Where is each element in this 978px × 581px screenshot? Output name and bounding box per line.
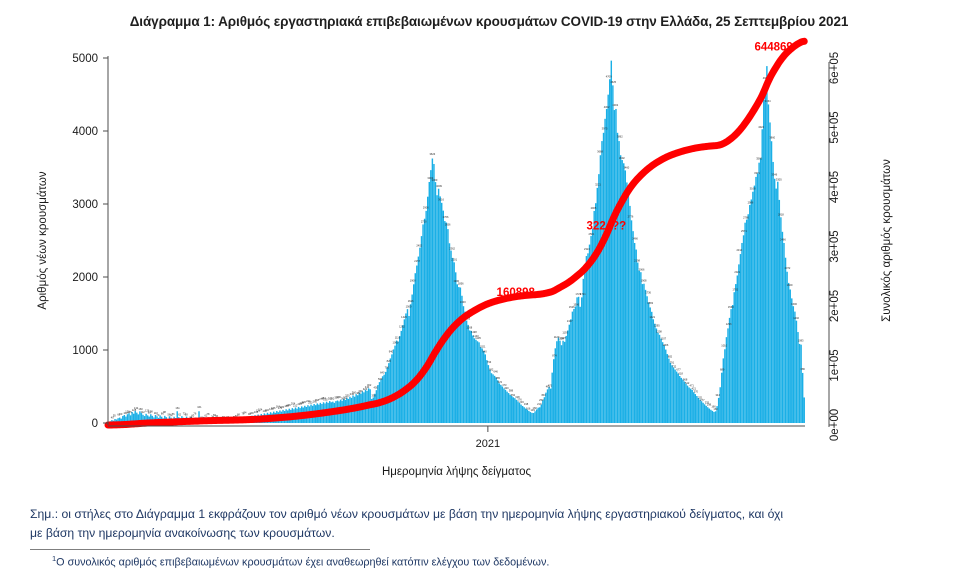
bar bbox=[480, 347, 481, 423]
bar bbox=[721, 373, 722, 423]
bar-value-label: 646 bbox=[494, 369, 499, 373]
bar-value-label: 4625 bbox=[610, 80, 616, 84]
bar-value-label: 462 bbox=[367, 383, 372, 387]
bar-value-label: 2066 bbox=[639, 267, 645, 271]
bar bbox=[475, 340, 476, 423]
bar-value-label: 732 bbox=[672, 364, 677, 368]
bar bbox=[550, 389, 551, 423]
bar-value-label: 1107 bbox=[661, 336, 667, 340]
bar bbox=[659, 335, 660, 423]
bar bbox=[674, 370, 675, 423]
bar bbox=[477, 341, 478, 423]
bar bbox=[405, 313, 406, 423]
bar bbox=[472, 336, 473, 423]
bar-value-label: 1560 bbox=[728, 305, 734, 309]
bar bbox=[648, 302, 649, 423]
bar-value-label: 3460 bbox=[623, 166, 629, 170]
y-axis-title: Αριθμός νέων κρουσμάτων bbox=[37, 171, 49, 309]
bar-value-label: 618 bbox=[678, 371, 683, 375]
bar-value-label: 3566 bbox=[756, 156, 762, 160]
bar-value-label: 2324 bbox=[584, 247, 590, 251]
bar-value-label: 2466 bbox=[632, 237, 638, 241]
bar-value-label: 1127 bbox=[560, 336, 566, 340]
bar bbox=[551, 373, 552, 423]
bar bbox=[509, 395, 510, 423]
bar-value-label: 2720 bbox=[421, 220, 427, 224]
bar bbox=[691, 390, 692, 423]
y-axis-tick-label: 2000 bbox=[72, 272, 98, 284]
bar bbox=[611, 61, 612, 423]
bar-value-label: 4364 bbox=[765, 99, 771, 103]
note-footnote: 1Ο συνολικός αριθμός επιβεβαιωμένων κρου… bbox=[52, 554, 948, 571]
bar bbox=[474, 338, 475, 423]
cumulative-annotation: 160898 bbox=[497, 287, 536, 299]
bar bbox=[573, 309, 574, 423]
bar-value-label: 2818 bbox=[778, 213, 784, 217]
bar-value-label: 2362 bbox=[449, 246, 455, 250]
bar-value-label: 874 bbox=[552, 353, 557, 357]
bar bbox=[404, 319, 405, 423]
bar-value-label: 1010 bbox=[721, 343, 727, 347]
bar-value-label: 2021 bbox=[734, 270, 740, 274]
bar bbox=[513, 397, 514, 423]
bar bbox=[525, 409, 526, 423]
bar bbox=[579, 307, 580, 423]
bar-value-label: 198 bbox=[524, 402, 529, 406]
bar-value-label: 3602 bbox=[619, 156, 625, 160]
bar bbox=[710, 410, 711, 423]
bar bbox=[755, 177, 756, 423]
bar-value-label: 3221 bbox=[595, 183, 601, 187]
bar bbox=[408, 316, 409, 423]
bar bbox=[587, 253, 588, 423]
bar bbox=[522, 406, 523, 423]
bar bbox=[471, 331, 472, 423]
y-axis-tick-label: 5000 bbox=[72, 53, 98, 65]
bar bbox=[500, 385, 501, 423]
bar bbox=[631, 220, 632, 423]
bar bbox=[569, 325, 570, 423]
bar bbox=[663, 345, 664, 423]
bar bbox=[407, 309, 408, 423]
bar bbox=[416, 266, 417, 423]
bar bbox=[646, 296, 647, 423]
bar bbox=[502, 387, 503, 424]
bar bbox=[489, 370, 490, 423]
figure-area: 4055666011012010512814216011212688981107… bbox=[0, 34, 978, 494]
bar-value-label: 882 bbox=[668, 354, 673, 358]
bar bbox=[514, 398, 515, 423]
bar bbox=[527, 410, 528, 423]
bar bbox=[634, 243, 635, 423]
bar bbox=[639, 271, 640, 423]
footnote-text: Ο συνολικός αριθμός επιβεβαιωμένων κρουσ… bbox=[56, 556, 549, 568]
y2-axis-tick-label: 5e+05 bbox=[829, 111, 841, 143]
bar bbox=[699, 400, 700, 423]
bar bbox=[695, 394, 696, 423]
bar bbox=[415, 273, 416, 423]
bar-value-label: 3862 bbox=[617, 135, 623, 139]
bar bbox=[642, 284, 643, 423]
bar-value-label: 1900 bbox=[410, 278, 416, 282]
bar bbox=[617, 133, 618, 423]
bar-value-label: 98 bbox=[163, 410, 166, 414]
bar-value-label: 1402 bbox=[793, 316, 799, 320]
bar bbox=[494, 376, 495, 423]
bar-value-label: 1560 bbox=[406, 304, 412, 308]
bar bbox=[422, 224, 423, 423]
bar-value-label: 253 bbox=[539, 398, 544, 402]
y-axis-tick-label: 1000 bbox=[72, 345, 98, 357]
bar-value-label: 1600 bbox=[791, 302, 797, 306]
bar-value-label: 820 bbox=[387, 359, 392, 363]
bar bbox=[662, 342, 663, 423]
bar-value-label: 353 bbox=[541, 393, 546, 397]
bar bbox=[772, 162, 773, 423]
bar-value-label: 1116 bbox=[395, 336, 401, 340]
bar bbox=[488, 365, 489, 423]
bar bbox=[629, 206, 630, 423]
bar bbox=[626, 182, 627, 423]
bar bbox=[713, 412, 714, 423]
bar-value-label: 2201 bbox=[451, 258, 457, 262]
bar bbox=[402, 325, 403, 423]
bar bbox=[553, 359, 554, 423]
bar bbox=[761, 129, 762, 423]
bar bbox=[531, 413, 532, 423]
bar bbox=[466, 321, 467, 423]
bar bbox=[612, 85, 613, 423]
bar-value-label: 1060 bbox=[393, 340, 399, 344]
bar-value-label: 1600 bbox=[460, 300, 466, 304]
bar bbox=[558, 337, 559, 423]
bar-value-label: 1856 bbox=[458, 282, 464, 286]
bar bbox=[667, 354, 668, 423]
bar bbox=[534, 411, 535, 423]
bar-value-label: 568 bbox=[683, 377, 688, 381]
bar-value-label: 1193 bbox=[562, 331, 568, 335]
bar-value-label: 3623 bbox=[429, 152, 435, 156]
x-axis-title: Ημερομηνία λήψης δείγματος bbox=[382, 466, 532, 478]
bar bbox=[690, 389, 691, 423]
bar bbox=[419, 248, 420, 423]
bar bbox=[450, 251, 451, 423]
bar-value-label: 677 bbox=[676, 368, 681, 372]
bar-value-label: 1829 bbox=[787, 283, 793, 287]
bar-value-label: 160 bbox=[713, 407, 718, 411]
bar bbox=[374, 394, 375, 423]
bar-value-label: 62 bbox=[178, 413, 181, 417]
page-title: Διάγραμμα 1: Αριθμός εργαστηριακά επιβεβ… bbox=[0, 14, 978, 29]
bar-value-label: 2906 bbox=[423, 206, 429, 210]
bar bbox=[797, 332, 798, 423]
bar-value-label: 2571 bbox=[741, 229, 747, 233]
bar bbox=[747, 214, 748, 423]
bar bbox=[418, 257, 419, 423]
bar bbox=[701, 401, 702, 423]
bar bbox=[779, 200, 780, 423]
bar bbox=[693, 392, 694, 423]
bar bbox=[411, 295, 412, 423]
bar-value-label: 2766 bbox=[443, 215, 449, 219]
bar-value-label: 2776 bbox=[628, 215, 634, 219]
bar-value-label: 585 bbox=[496, 376, 501, 380]
bar bbox=[741, 243, 742, 423]
bar bbox=[656, 328, 657, 423]
cumulative-annotation: 644869 bbox=[754, 42, 792, 54]
bar bbox=[774, 179, 775, 423]
bar-value-label: 2656 bbox=[445, 223, 451, 227]
bar bbox=[564, 342, 565, 423]
bar bbox=[698, 398, 699, 423]
bar bbox=[645, 290, 646, 423]
bar bbox=[726, 337, 727, 423]
bar bbox=[799, 344, 800, 423]
bar bbox=[495, 378, 496, 423]
bar-value-label: 4302 bbox=[612, 103, 618, 107]
bar bbox=[433, 164, 434, 423]
bar-value-label: 4709 bbox=[606, 74, 612, 78]
bar bbox=[668, 359, 669, 423]
bar-value-label: 3168 bbox=[750, 186, 756, 190]
bar bbox=[635, 250, 636, 423]
bar-value-label: 3975 bbox=[602, 126, 608, 130]
bar-value-label: 1296 bbox=[726, 322, 732, 326]
bar bbox=[555, 348, 556, 423]
bar bbox=[506, 392, 507, 423]
y2-axis-tick-label: 4e+05 bbox=[829, 171, 841, 203]
bar bbox=[530, 412, 531, 423]
bar bbox=[511, 396, 512, 423]
bar-value-label: 2786 bbox=[743, 215, 749, 219]
bar bbox=[497, 380, 498, 423]
bar bbox=[615, 109, 616, 423]
notes-block: Σημ.: οι στήλες στο Διάγραμμα 1 εκφράζου… bbox=[30, 505, 948, 571]
bar bbox=[542, 400, 543, 423]
bar-value-label: 1198 bbox=[471, 330, 477, 334]
bar-value-label: 1105 bbox=[475, 336, 481, 340]
bar bbox=[561, 345, 562, 423]
bar bbox=[603, 133, 604, 423]
bar bbox=[643, 284, 644, 423]
bar-value-label: 1792 bbox=[732, 287, 738, 291]
bar bbox=[625, 170, 626, 423]
bar bbox=[766, 66, 767, 423]
bar bbox=[578, 297, 579, 423]
bar-value-label: 1295 bbox=[654, 324, 660, 328]
bar bbox=[649, 307, 650, 423]
bar bbox=[572, 312, 573, 423]
bar bbox=[595, 203, 596, 423]
bar-value-label: 1721 bbox=[580, 292, 586, 296]
bar bbox=[796, 321, 797, 423]
bar-value-labels: 4055666011012010512814216011212688981107… bbox=[111, 74, 806, 419]
bar bbox=[541, 405, 542, 423]
y2-axis-tick-label: 1e+05 bbox=[829, 349, 841, 381]
bar bbox=[444, 221, 445, 423]
bar bbox=[545, 393, 546, 423]
bar bbox=[413, 284, 414, 423]
bar bbox=[660, 339, 661, 423]
bar bbox=[790, 289, 791, 423]
bar-value-label: 88 bbox=[185, 412, 188, 416]
bar-value-label: 3371 bbox=[754, 171, 760, 175]
bar bbox=[653, 319, 654, 423]
bar bbox=[788, 283, 789, 423]
bar bbox=[729, 318, 730, 423]
bar bbox=[463, 306, 464, 423]
bar bbox=[460, 288, 461, 423]
bar bbox=[777, 182, 778, 423]
bar-value-label: 4024 bbox=[758, 125, 764, 129]
bar bbox=[399, 336, 400, 423]
bar bbox=[598, 174, 599, 423]
bar-value-label: 161 bbox=[175, 406, 180, 410]
bar bbox=[533, 413, 534, 423]
bar bbox=[425, 211, 426, 423]
bar bbox=[671, 365, 672, 423]
bar-value-label: 1421 bbox=[649, 315, 655, 319]
y-axis-tick-label: 3000 bbox=[72, 199, 98, 211]
bar bbox=[544, 397, 545, 423]
bar-value-label: 84 bbox=[244, 410, 247, 414]
bar bbox=[737, 275, 738, 423]
bar-value-label: 344 bbox=[715, 393, 720, 397]
bar bbox=[752, 192, 753, 423]
bar-value-label: 686 bbox=[801, 367, 806, 371]
bar bbox=[537, 408, 538, 423]
bar-value-label: 161 bbox=[197, 405, 202, 409]
bar bbox=[388, 363, 389, 423]
note-main-line1: Σημ.: οι στήλες στο Διάγραμμα 1 εκφράζου… bbox=[30, 505, 948, 524]
bar bbox=[682, 379, 683, 423]
y2-axis-tick-label: 0e+00 bbox=[829, 409, 841, 441]
bar bbox=[765, 81, 766, 423]
bar bbox=[677, 374, 678, 423]
bar-value-label: 3668 bbox=[597, 149, 603, 153]
bar bbox=[744, 223, 745, 423]
bar bbox=[516, 400, 517, 423]
bar bbox=[393, 349, 394, 423]
bar bbox=[396, 341, 397, 423]
bar bbox=[746, 220, 747, 423]
bar bbox=[783, 243, 784, 423]
bar bbox=[688, 387, 689, 423]
bar bbox=[757, 173, 758, 423]
bar-value-label: 76 bbox=[193, 412, 196, 416]
bar bbox=[523, 407, 524, 423]
bar bbox=[485, 354, 486, 423]
bar bbox=[679, 376, 680, 423]
bar bbox=[776, 189, 777, 423]
bar-value-label: 4302 bbox=[604, 105, 610, 109]
bar-value-label: 1021 bbox=[480, 344, 486, 348]
bar-value-label: 940 bbox=[482, 350, 487, 354]
bar-value-label: 3016 bbox=[438, 198, 444, 202]
bar bbox=[576, 297, 577, 423]
x-axis-tick-label: 2021 bbox=[476, 438, 500, 450]
y2-axis-title: Συνολικός αριθμός κρουσμάτων bbox=[881, 159, 893, 322]
note-main-line2: με βάση την ημερομηνία ανακοίνωσης των κ… bbox=[30, 524, 948, 543]
bar bbox=[684, 382, 685, 423]
bar-value-label: 1083 bbox=[798, 339, 804, 343]
bar bbox=[763, 100, 764, 423]
bar bbox=[491, 373, 492, 423]
bar bbox=[539, 407, 540, 423]
bar-value-label: 78 bbox=[207, 412, 210, 416]
y2-axis-tick-label: 2e+05 bbox=[829, 290, 841, 322]
bar-value-label: 350 bbox=[371, 393, 376, 397]
bar bbox=[536, 409, 537, 423]
bar bbox=[712, 411, 713, 423]
bar bbox=[719, 387, 720, 423]
bar bbox=[657, 333, 658, 423]
bar bbox=[439, 196, 440, 423]
chart-page: Διάγραμμα 1: Αριθμός εργαστηριακά επιβεβ… bbox=[0, 0, 978, 581]
bar bbox=[570, 319, 571, 423]
bar bbox=[609, 79, 610, 423]
bar bbox=[793, 306, 794, 423]
bar bbox=[606, 109, 607, 423]
bar-value-label: 1268 bbox=[466, 326, 472, 330]
bar bbox=[508, 393, 509, 423]
bar bbox=[575, 306, 576, 423]
bar-value-label: 2072 bbox=[785, 266, 791, 270]
y2-axis-tick-label: 3e+05 bbox=[829, 230, 841, 262]
bar bbox=[727, 328, 728, 423]
bar bbox=[457, 284, 458, 423]
bar bbox=[670, 363, 671, 423]
bar bbox=[467, 325, 468, 423]
bar bbox=[705, 406, 706, 423]
bar bbox=[505, 390, 506, 423]
bar bbox=[614, 110, 615, 423]
bar-value-label: 210 bbox=[537, 402, 542, 406]
bar-value-label: 1006 bbox=[663, 343, 669, 347]
bar bbox=[387, 368, 388, 423]
bar-value-label: 86 bbox=[172, 412, 175, 416]
bar bbox=[492, 374, 493, 423]
y2-axis-tick-label: 6e+05 bbox=[829, 52, 841, 84]
bar bbox=[800, 345, 801, 423]
bar bbox=[453, 262, 454, 423]
bar bbox=[600, 155, 601, 423]
bar bbox=[794, 312, 795, 423]
bar bbox=[519, 403, 520, 423]
bar bbox=[601, 141, 602, 423]
bar bbox=[441, 203, 442, 423]
bar bbox=[651, 312, 652, 423]
bar bbox=[458, 287, 459, 423]
bar bbox=[718, 398, 719, 423]
bar bbox=[751, 199, 752, 423]
bar-value-label: 3860 bbox=[769, 135, 775, 139]
bar-value-label: 1908 bbox=[641, 278, 647, 282]
bar bbox=[581, 297, 582, 423]
bar bbox=[738, 264, 739, 423]
bar bbox=[483, 351, 484, 423]
note-divider bbox=[30, 549, 370, 550]
bar bbox=[676, 372, 677, 423]
bar bbox=[520, 405, 521, 423]
bar bbox=[637, 263, 638, 423]
bar bbox=[654, 324, 655, 423]
bar bbox=[640, 272, 641, 423]
bar bbox=[424, 219, 425, 423]
bar bbox=[421, 236, 422, 423]
bar-value-label: 471 bbox=[548, 383, 553, 387]
bar bbox=[589, 245, 590, 423]
